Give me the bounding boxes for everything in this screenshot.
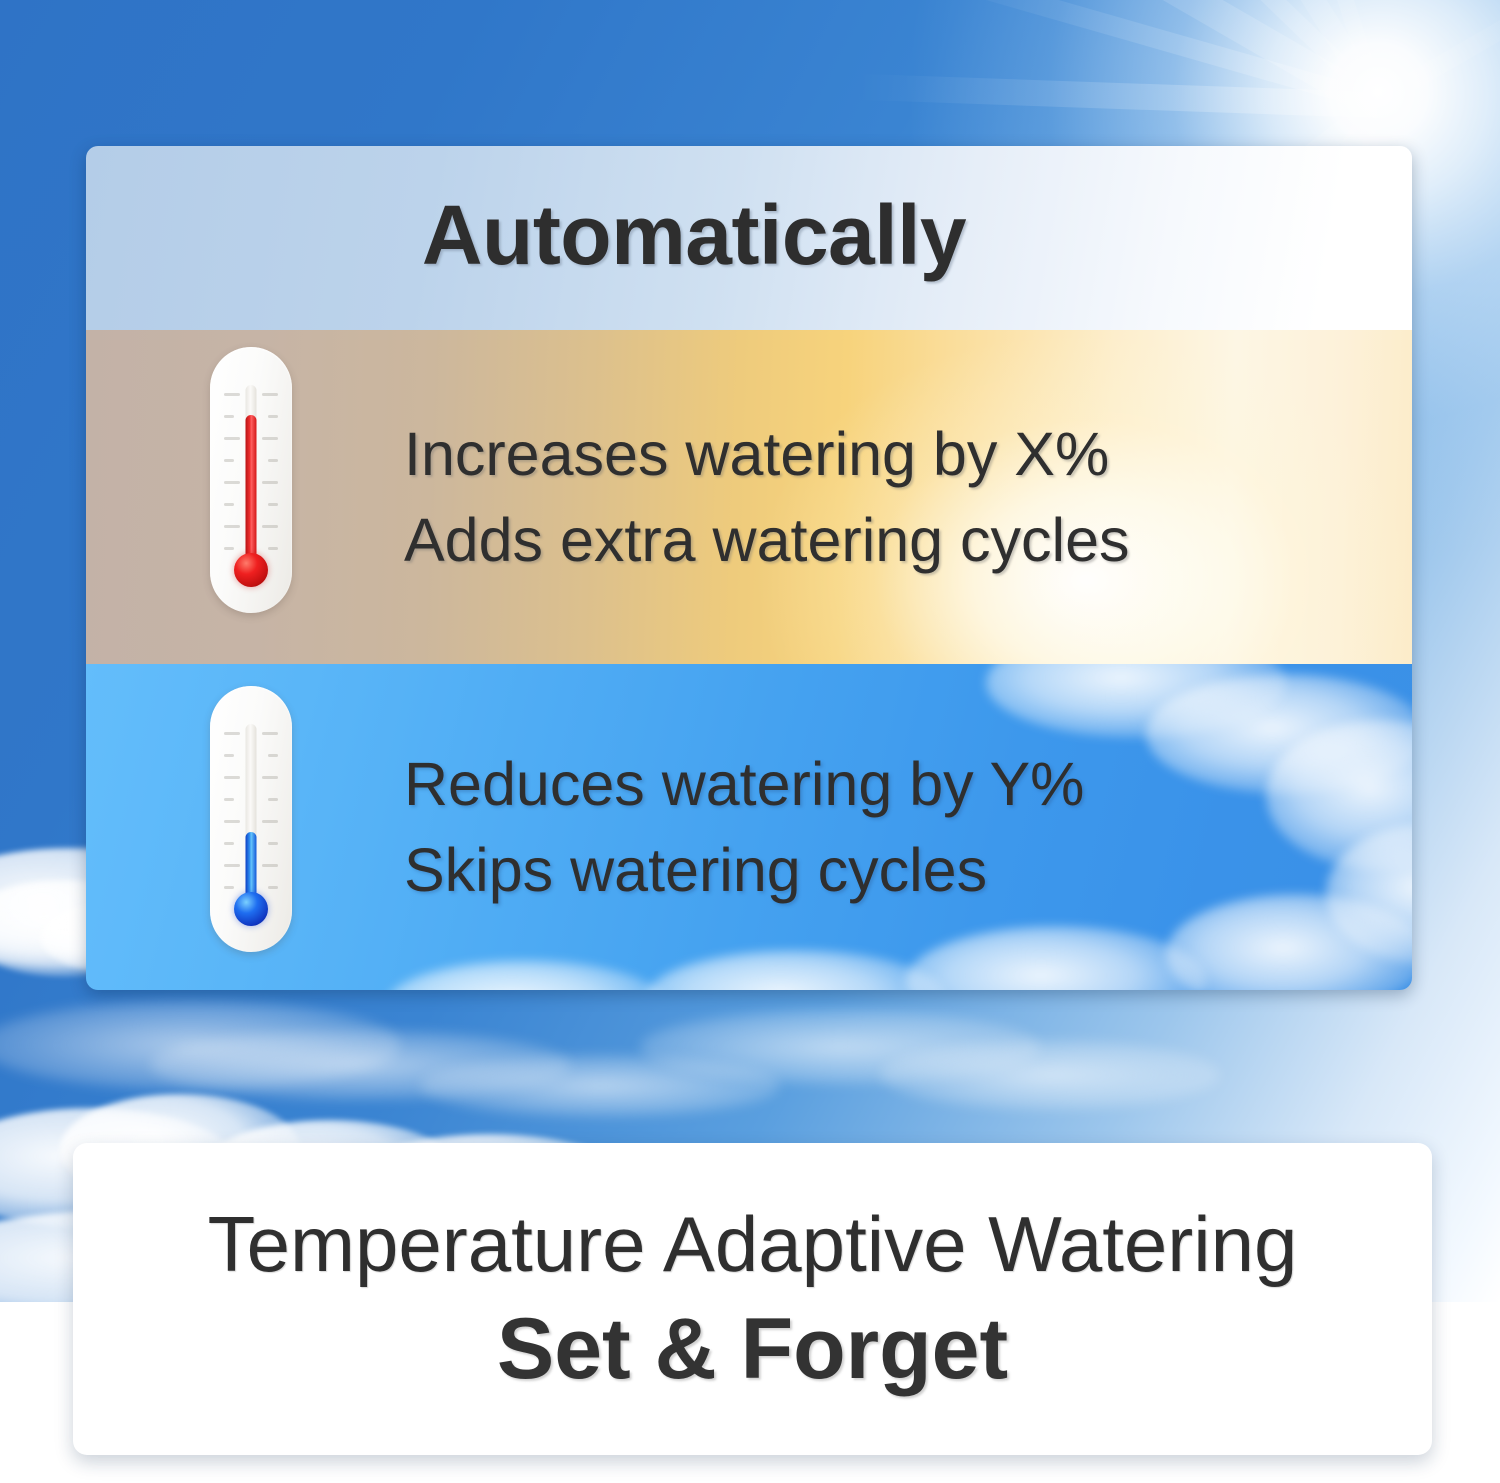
caption-tagline: Set & Forget: [497, 1300, 1008, 1399]
thermometer-hot-icon: [210, 347, 292, 613]
sun-ray: [1374, 0, 1500, 109]
sun-ray: [923, 0, 1380, 112]
sun-ray: [1278, 0, 1386, 102]
caption-card: Temperature Adaptive Watering Set & Forg…: [73, 1143, 1432, 1455]
cold-mode-band: Reduces watering by Y% Skips watering cy…: [86, 664, 1412, 990]
hot-mode-band: Increases watering by X% Adds extra wate…: [86, 330, 1412, 664]
poster-canvas: Automatically: [0, 0, 1500, 1483]
thermometer-mercury-hot: [246, 415, 257, 567]
card-header-band: Automatically: [86, 146, 1412, 330]
sun-ray: [937, 0, 1385, 120]
thermometer-bulb-cold: [234, 892, 268, 926]
page-title: Automatically: [422, 187, 966, 284]
sun-ray: [1062, 0, 1384, 107]
cloud-wisp: [420, 1055, 780, 1117]
cloud-wisp: [640, 1010, 1040, 1084]
cloud-wisp: [150, 1030, 570, 1100]
cold-mode-text-block: Reduces watering by Y% Skips watering cy…: [404, 750, 1084, 905]
cold-line-1: Reduces watering by Y%: [404, 750, 1084, 818]
cloud-wisp: [0, 1000, 400, 1090]
feature-card: Automatically: [86, 146, 1412, 990]
cold-line-2: Skips watering cycles: [404, 836, 1084, 904]
cloud-wisp: [880, 1040, 1220, 1110]
sun-ray: [1167, 0, 1387, 109]
caption-headline: Temperature Adaptive Watering: [208, 1199, 1298, 1290]
thermometer-bulb-hot: [234, 553, 268, 587]
hot-line-2: Adds extra watering cycles: [404, 506, 1130, 574]
hot-mode-text-block: Increases watering by X% Adds extra wate…: [404, 420, 1130, 575]
sun-ray: [858, 74, 1379, 118]
thermometer-cold-icon: [210, 686, 292, 952]
hot-line-1: Increases watering by X%: [404, 420, 1130, 488]
